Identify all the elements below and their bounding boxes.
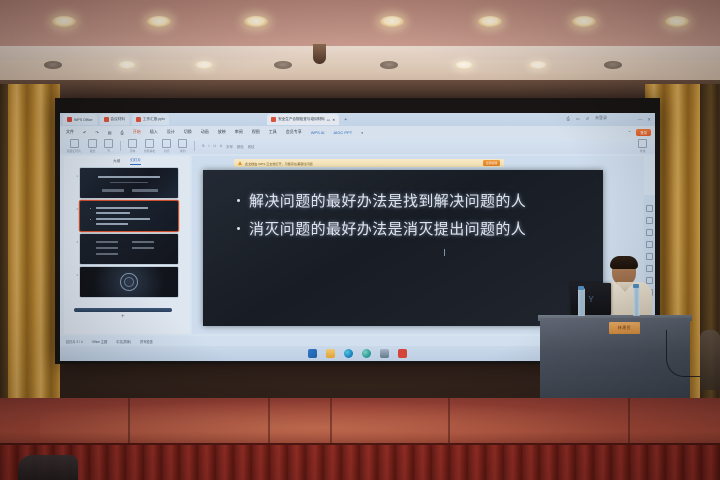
close-button[interactable]: ✕ bbox=[647, 117, 651, 123]
toolbar-divider bbox=[120, 141, 121, 151]
theme-label[interactable]: Office 主题 bbox=[92, 339, 108, 344]
new-tab-button[interactable]: + bbox=[344, 117, 347, 123]
slide-number: 3 bbox=[74, 234, 78, 244]
slide-indicator: 幻灯片 2 / 4 bbox=[66, 339, 83, 344]
ribbon-redo-icon[interactable]: ↷ bbox=[95, 130, 98, 135]
tab-slides[interactable]: 幻灯片 bbox=[130, 158, 141, 165]
ceiling-speaker-icon bbox=[313, 44, 326, 64]
ceiling-light bbox=[52, 16, 76, 27]
shape-icon[interactable] bbox=[646, 217, 653, 224]
ribbon-menu: 文件 ↶ ↷ ▤ ⎙ 开始 插入 设计 切换 动画 放映 审阅 视图 工具 会员… bbox=[60, 126, 655, 138]
ribbon-tab-wps-ai[interactable]: WPS AI bbox=[311, 130, 325, 135]
name-card-text: 林建民 bbox=[618, 325, 632, 331]
tool-label: 版式 bbox=[90, 149, 96, 153]
ceiling-light bbox=[572, 16, 596, 27]
tab-outline[interactable]: 大纲 bbox=[113, 159, 120, 164]
tool-label: 新建幻灯片 bbox=[67, 149, 81, 153]
tool-label: 节 bbox=[107, 149, 110, 153]
document-tab[interactable]: 工作汇报.pptx bbox=[132, 114, 169, 125]
conference-room-photo: WPS Office 会议材料 工作汇报.pptx 安全生产合规检查与培训材料 … bbox=[0, 0, 720, 480]
tool-label: 查找 bbox=[640, 149, 646, 153]
window-toolbar: ⎙ ▭ ↺ 未登录 bbox=[567, 115, 607, 121]
ceiling-light bbox=[665, 16, 689, 27]
warning-icon bbox=[238, 161, 242, 165]
ceiling-light-off bbox=[44, 61, 62, 69]
tool-new-slide[interactable]: 新建幻灯片 bbox=[67, 139, 81, 153]
add-slide-button[interactable]: + bbox=[121, 314, 125, 320]
slide-thumbnail-selected[interactable] bbox=[80, 201, 178, 231]
bullet-dot-icon bbox=[237, 199, 240, 202]
tool-label: 排列 bbox=[180, 149, 186, 153]
font-icon bbox=[128, 139, 137, 148]
language-label[interactable]: 中文(简体) bbox=[116, 339, 131, 344]
list-item[interactable]: 4 bbox=[74, 267, 190, 297]
bottle-cap bbox=[633, 284, 639, 288]
search-icon[interactable]: ⌕ bbox=[361, 130, 363, 135]
background-person bbox=[700, 330, 720, 390]
ppt-icon bbox=[136, 117, 141, 122]
ceiling-light bbox=[147, 16, 171, 27]
app-icon[interactable] bbox=[380, 349, 389, 358]
document-tab-label: 会议材料 bbox=[111, 117, 125, 122]
edge-icon[interactable] bbox=[344, 349, 353, 358]
bullet-dot-icon bbox=[237, 227, 240, 230]
windows-icon[interactable] bbox=[308, 349, 317, 358]
align-icon bbox=[162, 139, 171, 148]
thumbnail-scroll-bar[interactable] bbox=[74, 308, 172, 312]
ceiling-light-off bbox=[274, 61, 292, 69]
text-caret bbox=[444, 249, 445, 256]
ceiling-light bbox=[118, 61, 136, 69]
minimize-button[interactable]: — bbox=[638, 117, 643, 123]
ceiling-light-off bbox=[604, 61, 622, 69]
ribbon-tab-home[interactable]: 开始 bbox=[133, 129, 141, 135]
slide-content: 解决问题的最好办法是找到解决问题的人 消灭问题的最好办法是消灭提出问题的人 bbox=[237, 192, 583, 249]
ppt-icon bbox=[104, 117, 109, 122]
foreground-object bbox=[18, 455, 78, 480]
editor-body: 大纲 幻灯片 1 2 bbox=[60, 154, 655, 336]
ribbon-save-icon[interactable]: ▤ bbox=[108, 130, 112, 135]
tool-label: 对齐 bbox=[164, 149, 170, 153]
water-bottle bbox=[578, 288, 585, 316]
ribbon-tab-member[interactable]: 会员专享 bbox=[286, 129, 302, 135]
ribbon-tab-review[interactable]: 审阅 bbox=[235, 129, 243, 135]
wps-tab-bar: WPS Office 会议材料 工作汇报.pptx 安全生产合规检查与培训材料 … bbox=[60, 113, 655, 126]
list-item[interactable]: 1 bbox=[74, 168, 190, 198]
document-tab[interactable]: WPS Office bbox=[63, 114, 97, 125]
ribbon-right-group: ⌃ 登录 bbox=[628, 129, 655, 136]
slide-canvas[interactable]: 解决问题的最好办法是找到解决问题的人 消灭问题的最好办法是消灭提出问题的人 bbox=[203, 170, 603, 326]
tool-align[interactable]: 对齐 bbox=[162, 139, 171, 153]
menu-file[interactable]: 文件 bbox=[66, 129, 74, 135]
wps-icon bbox=[67, 117, 72, 122]
ceiling-light bbox=[455, 61, 473, 69]
tab-close-icon[interactable]: ✕ bbox=[332, 118, 335, 122]
color-button[interactable]: 颜色 bbox=[237, 144, 244, 149]
tool-beautify[interactable]: 智能美化 bbox=[144, 139, 155, 153]
slide-bullet: 解决问题的最好办法是找到解决问题的人 bbox=[237, 192, 583, 213]
tool-find[interactable]: 查找 bbox=[638, 139, 647, 153]
ceiling-light-off bbox=[380, 61, 398, 69]
list-item[interactable]: 3 bbox=[74, 234, 190, 264]
document-tab-active[interactable]: 安全生产合规检查与培训材料 ▭ ✕ bbox=[267, 114, 339, 125]
tool-label: 字体 bbox=[130, 149, 136, 153]
collapse-ribbon-icon[interactable]: ⌃ bbox=[628, 130, 631, 135]
history-icon[interactable]: ↺ bbox=[586, 116, 589, 121]
ribbon-tab-slideshow[interactable]: 放映 bbox=[218, 129, 226, 135]
slide-bullet-text: 消灭问题的最好办法是消灭提出问题的人 bbox=[249, 220, 526, 241]
list-item[interactable]: 2 bbox=[74, 201, 190, 231]
section-icon bbox=[104, 139, 113, 148]
window-controls: — ✕ bbox=[638, 117, 655, 123]
stage-skirt bbox=[0, 445, 720, 480]
name-card: 林建民 bbox=[609, 322, 640, 334]
find-icon bbox=[638, 139, 647, 148]
laptop-logo-icon: Y bbox=[587, 296, 595, 304]
document-tab[interactable]: 会议材料 bbox=[100, 114, 129, 125]
tab-minimize-icon[interactable]: ▭ bbox=[327, 118, 330, 122]
comment-icon[interactable]: ▭ bbox=[576, 116, 580, 121]
bottle-cap bbox=[578, 286, 584, 290]
folder-icon[interactable] bbox=[326, 349, 335, 358]
slide-bullet-text: 解决问题的最好办法是找到解决问题的人 bbox=[249, 192, 526, 213]
share-icon[interactable]: ⎙ bbox=[567, 116, 570, 121]
ribbon-print-icon[interactable]: ⎙ bbox=[121, 130, 124, 135]
ppt-icon bbox=[271, 117, 276, 122]
ceiling-light bbox=[244, 16, 268, 27]
ceiling-light bbox=[529, 61, 547, 69]
user-avatar[interactable]: 未登录 bbox=[595, 115, 607, 121]
ribbon-tab-aigc-ppt[interactable]: AIGC PPT bbox=[333, 130, 352, 135]
browser-icon[interactable] bbox=[362, 349, 371, 358]
thumbnail-list: 1 2 bbox=[64, 168, 190, 318]
document-tab-label: WPS Office bbox=[74, 118, 93, 122]
spellcheck-label[interactable]: 拼写检查 bbox=[140, 339, 153, 344]
picture-icon[interactable] bbox=[646, 229, 653, 236]
tool-layout[interactable]: 版式 bbox=[88, 139, 97, 153]
water-bottle bbox=[633, 286, 640, 316]
thumbnail-pane-tabs: 大纲 幻灯片 bbox=[64, 156, 190, 167]
tool-font[interactable]: 字体 bbox=[128, 139, 137, 153]
slide-thumbnail-pane: 大纲 幻灯片 1 2 bbox=[64, 156, 190, 334]
presenter-hair bbox=[610, 256, 638, 269]
ribbon-toolbar: 新建幻灯片 版式 节 字体 智能美化 对齐 bbox=[60, 138, 655, 154]
ribbon-tab-design[interactable]: 设计 bbox=[167, 129, 175, 135]
login-button[interactable]: 登录 bbox=[636, 129, 651, 136]
format-icon[interactable] bbox=[646, 205, 653, 212]
notification-bar: 此文档由 WPS 云文档打开，可能存在兼容性问题 立即处理 bbox=[234, 159, 504, 167]
stage-light-pool bbox=[40, 400, 640, 446]
document-tab-label: 安全生产合规检查与培训材料 bbox=[278, 117, 325, 122]
new-slide-icon bbox=[70, 139, 79, 148]
tool-section[interactable]: 节 bbox=[104, 139, 113, 153]
ceiling-light bbox=[195, 61, 213, 69]
ceiling-light bbox=[478, 16, 502, 27]
wps-icon[interactable] bbox=[398, 349, 407, 358]
layout-icon bbox=[88, 139, 97, 148]
toolbar-divider bbox=[194, 141, 195, 151]
document-tab-label: 工作汇报.pptx bbox=[143, 117, 165, 122]
slide-thumbnail[interactable] bbox=[80, 168, 178, 198]
arrange-icon bbox=[178, 139, 187, 148]
font-color-button[interactable]: A bbox=[220, 144, 222, 148]
ribbon-tab-transition[interactable]: 切换 bbox=[184, 129, 192, 135]
cable bbox=[666, 330, 703, 377]
tool-label: 智能美化 bbox=[144, 149, 155, 153]
ceiling bbox=[0, 0, 720, 50]
slide-number: 4 bbox=[74, 267, 78, 277]
curtain-left bbox=[8, 84, 60, 406]
font-size-button[interactable]: 字号 bbox=[226, 144, 233, 149]
ribbon-tab-tools[interactable]: 工具 bbox=[269, 129, 277, 135]
slide-thumbnail[interactable] bbox=[80, 267, 178, 297]
logo-badge-icon bbox=[120, 273, 138, 291]
shading-button[interactable]: 底纹 bbox=[248, 144, 255, 149]
ribbon-undo-icon[interactable]: ↶ bbox=[83, 130, 86, 135]
format-controls: B I U A 字号 颜色 底纹 bbox=[202, 144, 254, 149]
slide-number: 2 bbox=[74, 201, 78, 211]
italic-button[interactable]: I bbox=[208, 144, 209, 148]
slide-number: 1 bbox=[74, 168, 78, 178]
slide-bullet: 消灭问题的最好办法是消灭提出问题的人 bbox=[237, 220, 583, 241]
tool-arrange[interactable]: 排列 bbox=[178, 139, 187, 153]
underline-button[interactable]: U bbox=[213, 144, 215, 148]
ribbon-tab-insert[interactable]: 插入 bbox=[150, 129, 158, 135]
ribbon-tab-animation[interactable]: 动画 bbox=[201, 129, 209, 135]
ceiling-light bbox=[380, 16, 404, 27]
notification-message: 此文档由 WPS 云文档打开，可能存在兼容性问题 bbox=[245, 161, 313, 166]
bold-button[interactable]: B bbox=[202, 144, 204, 148]
chart-icon[interactable] bbox=[646, 241, 653, 248]
ribbon-tab-view[interactable]: 视图 bbox=[252, 129, 260, 135]
notification-action-button[interactable]: 立即处理 bbox=[483, 160, 500, 166]
beautify-icon bbox=[145, 139, 154, 148]
slide-thumbnail[interactable] bbox=[80, 234, 178, 264]
